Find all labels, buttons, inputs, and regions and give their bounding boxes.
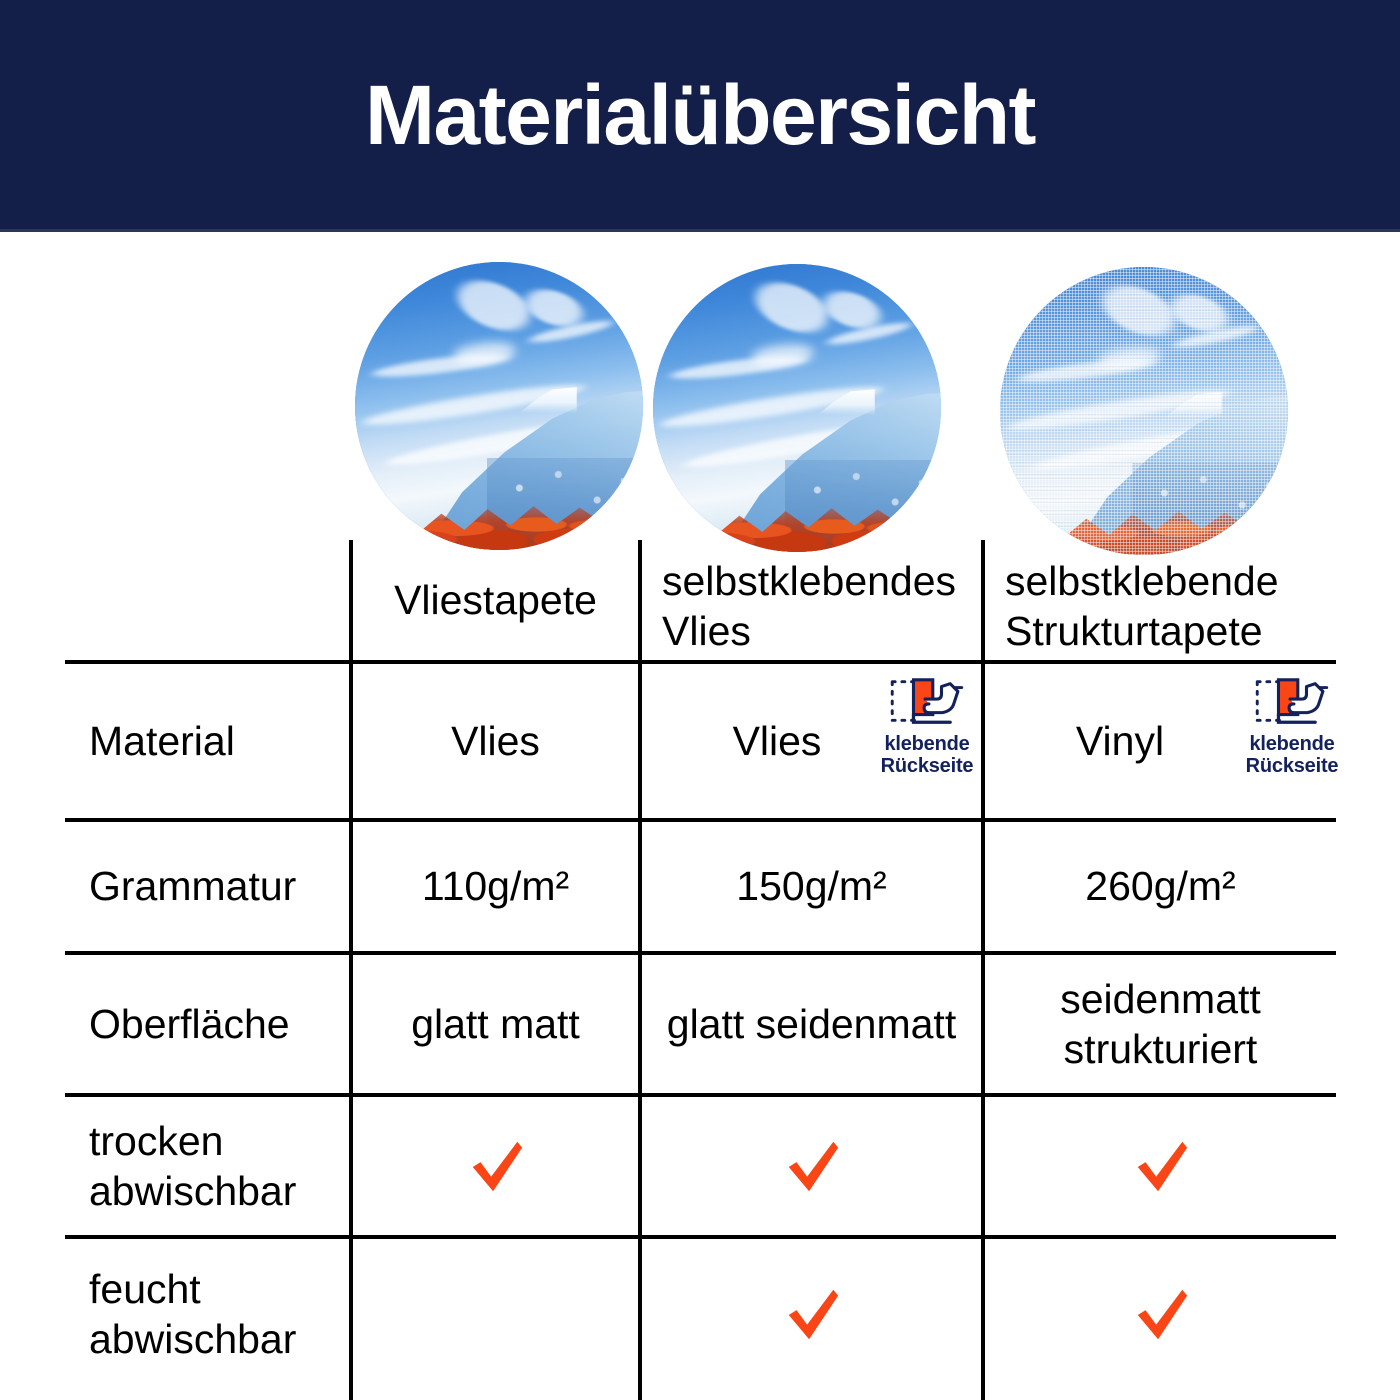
adhesive-back-badge-column-2: klebende Rückseite (871, 674, 983, 778)
header-divider (0, 229, 1400, 232)
cell-grammatur-selbstklebendes-vlies: 150g/m² (642, 822, 981, 951)
adhesive-badge-line-2: Rückseite (871, 755, 983, 777)
material-overview-page: Materialübersicht (0, 0, 1400, 1400)
row-label-material: Material (65, 664, 349, 818)
column-header-selbstklebendes-vlies: selbstklebendes Vlies (642, 552, 981, 660)
row-label-trocken-abwischbar: trocken abwischbar (65, 1097, 349, 1235)
header-banner: Materialübersicht (0, 0, 1400, 229)
cell-oberflaeche-selbstklebendes-vlies: glatt seidenmatt (642, 955, 981, 1093)
check-icon (781, 1135, 843, 1197)
check-icon (781, 1283, 843, 1345)
cell-trocken-strukturtapete (985, 1097, 1336, 1235)
cell-feucht-strukturtapete (985, 1239, 1336, 1389)
column-header-vliestapete: Vliestapete (353, 540, 638, 660)
material-comparison-table: Vliestapete selbstklebendes Vlies selbst… (65, 540, 1336, 1400)
adhesive-badge-line-2: Rückseite (1236, 755, 1348, 777)
check-icon (465, 1135, 527, 1197)
preview-circle-selbstklebendes-vlies (653, 264, 941, 552)
adhesive-back-badge-column-3: klebende Rückseite (1236, 674, 1348, 778)
cell-feucht-vliestapete (353, 1239, 638, 1389)
check-icon (1130, 1135, 1192, 1197)
adhesive-back-icon (1251, 674, 1333, 730)
cell-oberflaeche-vliestapete: glatt matt (353, 955, 638, 1093)
row-label-feucht-abwischbar: feucht abwischbar (65, 1239, 349, 1389)
material-preview-circles (353, 252, 1335, 562)
cell-trocken-selbstklebendes-vlies (642, 1097, 981, 1235)
cell-material-strukturtapete: Vinyl (985, 664, 1255, 818)
preview-image-3 (1000, 267, 1288, 555)
cell-grammatur-vliestapete: 110g/m² (353, 822, 638, 951)
adhesive-back-icon (886, 674, 968, 730)
page-title: Materialübersicht (365, 73, 1035, 157)
row-label-grammatur: Grammatur (65, 822, 349, 951)
preview-image-1 (355, 262, 643, 550)
row-label-oberflaeche: Oberfläche (65, 955, 349, 1093)
check-icon (1130, 1283, 1192, 1345)
cell-grammatur-strukturtapete: 260g/m² (985, 822, 1336, 951)
cell-feucht-selbstklebendes-vlies (642, 1239, 981, 1389)
preview-circle-strukturtapete (1000, 267, 1288, 555)
cell-oberflaeche-strukturtapete: seidenmatt strukturiert (985, 955, 1336, 1093)
column-header-strukturtapete: selbstklebende Strukturtapete (985, 552, 1336, 660)
cell-trocken-vliestapete (353, 1097, 638, 1235)
cell-material-vliestapete: Vlies (353, 664, 638, 818)
preview-circle-vliestapete (355, 262, 643, 550)
adhesive-badge-line-1: klebende (1236, 733, 1348, 755)
adhesive-badge-line-1: klebende (871, 733, 983, 755)
preview-image-2 (653, 264, 941, 552)
